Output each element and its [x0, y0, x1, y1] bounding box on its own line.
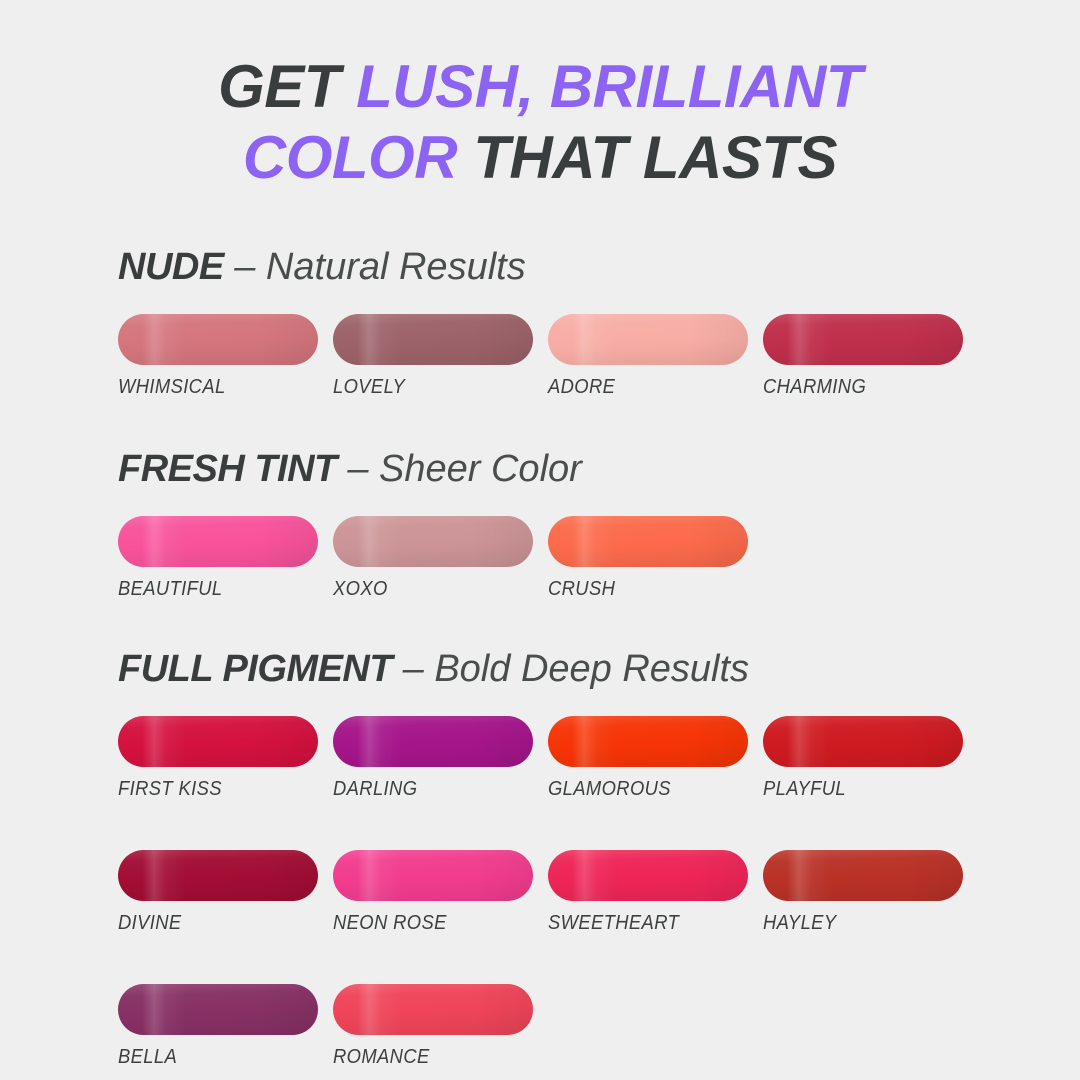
swatch-label: CRUSH: [548, 578, 746, 601]
swatch-cell[interactable]: SWEETHEART: [548, 850, 763, 935]
swatch-romance[interactable]: [333, 984, 533, 1035]
swatch-label: HAYLEY: [763, 912, 961, 935]
headline-line-2: COLOR THAT LASTS: [0, 123, 1080, 194]
section-title-light: – Bold Deep Results: [392, 648, 749, 690]
shade-chart-page: GET LUSH, BRILLIANT COLOR THAT LASTS NUD…: [0, 0, 1080, 1080]
swatch-grid-fresh-tint: BEAUTIFUL XOXO CRUSH: [118, 516, 1033, 601]
swatch-label: ROMANCE: [333, 1046, 531, 1069]
swatch-sweetheart[interactable]: [548, 850, 748, 901]
swatch-crush[interactable]: [548, 516, 748, 567]
section-title-light: – Sheer Color: [337, 448, 582, 490]
swatch-glamorous[interactable]: [548, 716, 748, 767]
swatch-cell[interactable]: ADORE: [548, 314, 763, 399]
swatch-cell[interactable]: PLAYFUL: [763, 716, 978, 801]
swatch-cell[interactable]: DIVINE: [118, 850, 333, 935]
swatch-label: ADORE: [548, 376, 746, 399]
swatch-cell[interactable]: ROMANCE: [333, 984, 548, 1069]
swatch-first-kiss[interactable]: [118, 716, 318, 767]
swatch-cell[interactable]: CHARMING: [763, 314, 978, 399]
swatch-cell[interactable]: HAYLEY: [763, 850, 978, 935]
swatch-label: XOXO: [333, 578, 531, 601]
swatch-bella[interactable]: [118, 984, 318, 1035]
swatch-label: WHIMSICAL: [118, 376, 316, 399]
swatch-cell[interactable]: NEON ROSE: [333, 850, 548, 935]
headline-get: GET: [218, 53, 356, 120]
swatch-cell[interactable]: GLAMOROUS: [548, 716, 763, 801]
swatch-adore[interactable]: [548, 314, 748, 365]
section-fresh-tint: FRESH TINT – Sheer Color BEAUTIFUL XOXO …: [118, 450, 1018, 601]
swatch-label: PLAYFUL: [763, 778, 961, 801]
swatch-cell[interactable]: BEAUTIFUL: [118, 516, 333, 601]
swatch-label: LOVELY: [333, 376, 531, 399]
swatch-grid-nude: WHIMSICAL LOVELY ADORE CHARMING: [118, 314, 1033, 399]
swatch-label: FIRST KISS: [118, 778, 316, 801]
swatch-label: GLAMOROUS: [548, 778, 746, 801]
section-full-pigment: FULL PIGMENT – Bold Deep Results FIRST K…: [118, 650, 1018, 1069]
swatch-label: BEAUTIFUL: [118, 578, 316, 601]
swatch-grid-full-pigment: FIRST KISS DARLING GLAMOROUS PLAYFUL DIV…: [118, 716, 1033, 1069]
section-title-fresh-tint: FRESH TINT – Sheer Color: [118, 450, 1018, 488]
swatch-whimsical[interactable]: [118, 314, 318, 365]
swatch-label: BELLA: [118, 1046, 316, 1069]
page-headline: GET LUSH, BRILLIANT COLOR THAT LASTS: [0, 52, 1080, 194]
section-title-strong: FULL PIGMENT: [118, 648, 392, 690]
swatch-xoxo[interactable]: [333, 516, 533, 567]
swatch-cell[interactable]: DARLING: [333, 716, 548, 801]
swatch-cell[interactable]: LOVELY: [333, 314, 548, 399]
section-title-strong: FRESH TINT: [118, 448, 337, 490]
swatch-darling[interactable]: [333, 716, 533, 767]
headline-that-lasts: THAT LASTS: [457, 124, 837, 191]
swatch-label: SWEETHEART: [548, 912, 746, 935]
headline-color: COLOR: [243, 124, 457, 191]
swatch-playful[interactable]: [763, 716, 963, 767]
section-title-light: – Natural Results: [224, 246, 526, 288]
section-title-full-pigment: FULL PIGMENT – Bold Deep Results: [118, 650, 1018, 688]
swatch-hayley[interactable]: [763, 850, 963, 901]
swatch-divine[interactable]: [118, 850, 318, 901]
swatch-neon-rose[interactable]: [333, 850, 533, 901]
swatch-label: DARLING: [333, 778, 531, 801]
swatch-cell[interactable]: XOXO: [333, 516, 548, 601]
swatch-label: NEON ROSE: [333, 912, 531, 935]
section-title-nude: NUDE – Natural Results: [118, 248, 1018, 286]
swatch-charming[interactable]: [763, 314, 963, 365]
headline-line-1: GET LUSH, BRILLIANT: [0, 52, 1080, 123]
swatch-beautiful[interactable]: [118, 516, 318, 567]
swatch-label: CHARMING: [763, 376, 961, 399]
swatch-label: DIVINE: [118, 912, 316, 935]
swatch-cell[interactable]: FIRST KISS: [118, 716, 333, 801]
swatch-cell[interactable]: CRUSH: [548, 516, 763, 601]
headline-lush-brilliant: LUSH, BRILLIANT: [356, 53, 862, 120]
swatch-cell[interactable]: BELLA: [118, 984, 333, 1069]
swatch-cell[interactable]: WHIMSICAL: [118, 314, 333, 399]
section-nude: NUDE – Natural Results WHIMSICAL LOVELY …: [118, 248, 1018, 399]
swatch-lovely[interactable]: [333, 314, 533, 365]
section-title-strong: NUDE: [118, 246, 224, 288]
